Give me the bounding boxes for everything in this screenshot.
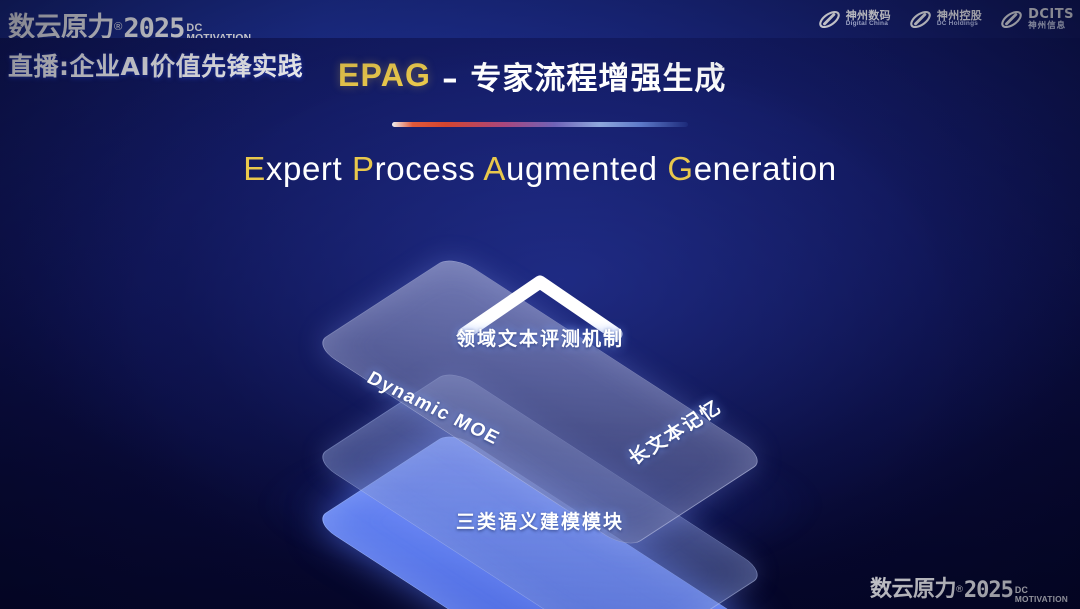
layered-architecture-diagram: 领域文本评测机制 Dynamic MOE 长文本记忆 三类语义建模模块 (210, 222, 870, 582)
gradient-divider (392, 122, 688, 127)
swirl-logo-icon (908, 7, 933, 32)
subtitle-word-augmented: ugmented (506, 150, 667, 187)
headline-acronym: EPAG (338, 57, 431, 94)
subtitle-initial-a: A (483, 150, 506, 187)
partner-name-en: Digital China (846, 21, 891, 28)
partner-logo-digital-china: 神州数码 Digital China (817, 7, 891, 32)
partner-logo-dc-holdings: 神州控股 DC Holdings (908, 7, 982, 32)
subtitle-initial-p: P (352, 150, 375, 187)
brand-logo-motivation: MOTIVATION (186, 34, 251, 38)
live-stream-title: 直播:企业AI价值先锋实践 (8, 47, 303, 83)
subtitle-word-generation: eneration (694, 150, 837, 187)
brand-registered-mark: ® (114, 22, 122, 33)
brand-registered-mark: ® (956, 585, 963, 594)
top-banner-bar: 数云原力®2025 DC MOTIVATION 神州数码 Digital Chi… (0, 0, 1080, 38)
brand-logo-year: 2025 (123, 13, 184, 38)
partner-name-cn: DCITS (1028, 8, 1074, 21)
slide-subtitle: Expert Process Augmented Generation (0, 150, 1080, 188)
partner-name-en: DC Holdings (937, 21, 982, 28)
subtitle-initial-e: E (243, 150, 266, 187)
stack-layer-bottom-label: 三类语义建模模块 (210, 507, 870, 534)
partner-logo-group: 神州数码 Digital China 神州控股 DC Holdings (817, 4, 1074, 34)
brand-logo-motivation: MOTIVATION (1015, 595, 1068, 603)
brand-logo-bottom: 数云原力®2025 DC MOTIVATION (870, 571, 1068, 603)
brand-logo-top: 数云原力®2025 DC MOTIVATION (8, 5, 251, 38)
stack-layer-top-label: 领域文本评测机制 (210, 324, 870, 351)
partner-name-en: 神州信息 (1028, 21, 1074, 30)
slide-canvas: 数云原力®2025 DC MOTIVATION 神州数码 Digital Chi… (0, 0, 1080, 609)
brand-logo-year: 2025 (964, 578, 1013, 603)
swirl-logo-icon (999, 7, 1024, 32)
swirl-logo-icon (817, 7, 842, 32)
brand-logo-cn: 数云原力 (870, 571, 956, 603)
subtitle-word-process: rocess (375, 150, 484, 187)
brand-logo-dc-motivation: DC MOTIVATION (186, 23, 251, 38)
subtitle-word-expert: xpert (266, 150, 352, 187)
partner-logo-dcits: DCITS 神州信息 (999, 7, 1074, 32)
brand-logo-cn: 数云原力 (8, 5, 114, 38)
subtitle-initial-g: G (667, 150, 693, 187)
brand-logo-dc-motivation: DC MOTIVATION (1015, 586, 1068, 603)
slide-headline: EPAG – 专家流程增强生成 (338, 53, 726, 97)
headline-title-cn: – 专家流程增强生成 (442, 53, 726, 98)
